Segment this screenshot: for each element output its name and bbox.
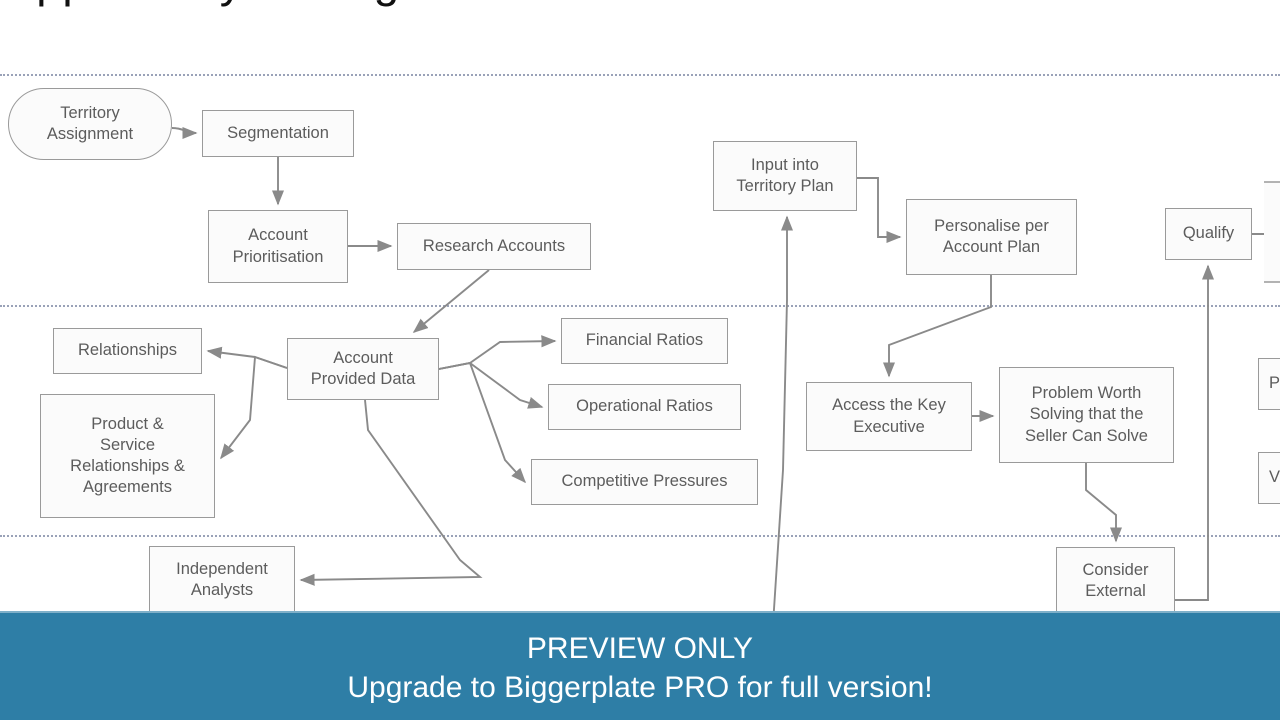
preview-banner-line-2: Upgrade to Biggerplate PRO for full vers…	[347, 668, 932, 707]
node-operational-ratios[interactable]: Operational Ratios	[548, 384, 741, 430]
node-segmentation[interactable]: Segmentation	[202, 110, 354, 157]
preview-banner: PREVIEW ONLY Upgrade to Biggerplate PRO …	[0, 611, 1280, 720]
decision-brace-shape	[1258, 180, 1280, 284]
lane-separator-2	[0, 305, 1280, 307]
node-personalise-per-account-plan[interactable]: Personalise per Account Plan	[906, 199, 1077, 275]
node-research-accounts[interactable]: Research Accounts	[397, 223, 591, 270]
node-problem-worth-solving[interactable]: Problem Worth Solving that the Seller Ca…	[999, 367, 1174, 463]
node-qualify[interactable]: Qualify	[1165, 208, 1252, 260]
node-right-clipped-p[interactable]: P	[1258, 358, 1280, 410]
node-input-into-territory-plan[interactable]: Input into Territory Plan	[713, 141, 857, 211]
node-territory-assignment[interactable]: Territory Assignment	[8, 88, 172, 160]
slide-canvas: Opportunity Management	[0, 0, 1280, 720]
lane-separator-1	[0, 74, 1280, 76]
slide-title-fragment: Opportunity Management	[0, 0, 1000, 14]
node-relationships[interactable]: Relationships	[53, 328, 202, 374]
node-account-prioritisation[interactable]: Account Prioritisation	[208, 210, 348, 283]
lane-separator-3	[0, 535, 1280, 537]
node-competitive-pressures[interactable]: Competitive Pressures	[531, 459, 758, 505]
node-account-provided-data[interactable]: Account Provided Data	[287, 338, 439, 400]
node-consider-external[interactable]: Consider External	[1056, 547, 1175, 615]
node-financial-ratios[interactable]: Financial Ratios	[561, 318, 728, 364]
node-right-clipped-v[interactable]: V	[1258, 452, 1280, 504]
preview-banner-line-1: PREVIEW ONLY	[527, 629, 753, 668]
node-product-service-relationships[interactable]: Product & Service Relationships & Agreem…	[40, 394, 215, 518]
node-access-the-key-executive[interactable]: Access the Key Executive	[806, 382, 972, 451]
node-independent-analysts[interactable]: Independent Analysts	[149, 546, 295, 614]
